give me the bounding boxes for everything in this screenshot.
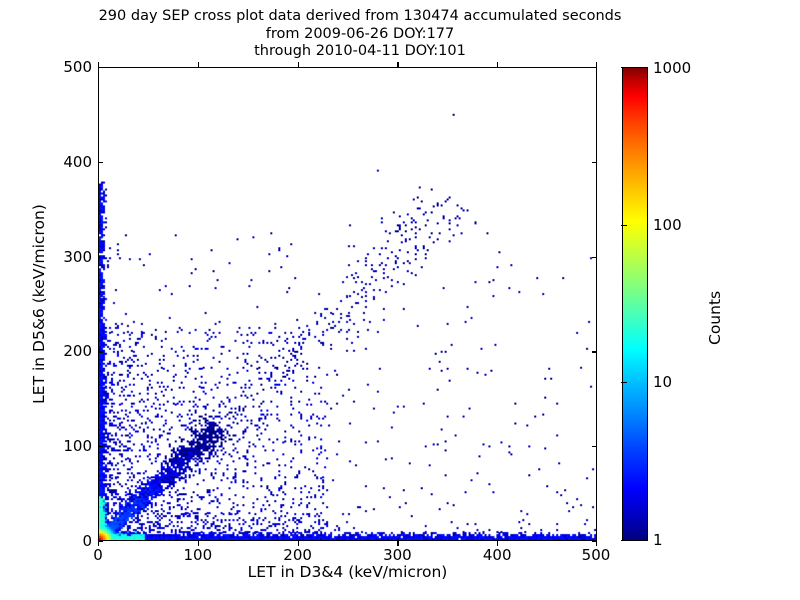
y-tick-label-100: 100 [58, 437, 92, 455]
x-tick-mark-top-200 [298, 62, 299, 67]
y-tick-mark-200 [98, 351, 103, 352]
plot-title-line-1: 290 day SEP cross plot data derived from… [0, 8, 720, 26]
y-axis-label: LET in D5&6 (keV/micron) [30, 67, 48, 541]
x-tick-mark-top-300 [397, 62, 398, 67]
x-tick-label-200: 200 [283, 546, 312, 564]
y-tick-label-400: 400 [58, 153, 92, 171]
y-tick-mark-100 [98, 446, 103, 447]
colorbar-tick-label-1000: 1000 [653, 59, 691, 77]
colorbar: 1 10 100 1000 [622, 67, 648, 541]
colorbar-tick-label-10: 10 [653, 373, 672, 391]
y-tick-mark-right-500 [592, 67, 597, 68]
colorbar-label: Counts [706, 291, 724, 345]
scatter-density-canvas [99, 68, 596, 540]
x-tick-label-500: 500 [582, 546, 611, 564]
y-tick-label-200: 200 [58, 342, 92, 360]
plot-title-line-2: from 2009-06-26 DOY:177 [0, 26, 720, 44]
colorbar-tick-label-100: 100 [653, 216, 682, 234]
y-tick-label-500: 500 [58, 58, 92, 76]
colorbar-tick-label-1: 1 [653, 531, 663, 549]
plot-area [98, 67, 597, 541]
colorbar-tick-mark-1 [621, 540, 627, 541]
x-tick-label-300: 300 [383, 546, 412, 564]
plot-title: 290 day SEP cross plot data derived from… [0, 8, 720, 61]
y-tick-mark-0 [98, 541, 103, 542]
y-tick-mark-right-100 [592, 446, 597, 447]
y-tick-mark-300 [98, 257, 103, 258]
x-tick-mark-top-400 [497, 62, 498, 67]
y-tick-mark-right-400 [592, 162, 597, 163]
x-tick-label-400: 400 [483, 546, 512, 564]
x-tick-label-0: 0 [93, 546, 103, 564]
x-axis-label: LET in D3&4 (keV/micron) [98, 563, 597, 581]
y-tick-mark-500 [98, 67, 103, 68]
colorbar-tick-mark-10 [621, 382, 627, 383]
colorbar-tick-mark-1000 [621, 67, 627, 68]
colorbar-tick-mark-100 [621, 225, 627, 226]
plot-title-line-3: through 2010-04-11 DOY:101 [0, 43, 720, 61]
x-tick-label-100: 100 [183, 546, 212, 564]
y-tick-label-0: 0 [58, 532, 92, 550]
y-tick-mark-right-200 [592, 351, 597, 352]
y-tick-mark-right-300 [592, 257, 597, 258]
y-tick-mark-400 [98, 162, 103, 163]
x-tick-mark-top-100 [198, 62, 199, 67]
y-tick-mark-right-0 [592, 541, 597, 542]
colorbar-gradient [622, 67, 648, 541]
y-tick-label-300: 300 [58, 248, 92, 266]
